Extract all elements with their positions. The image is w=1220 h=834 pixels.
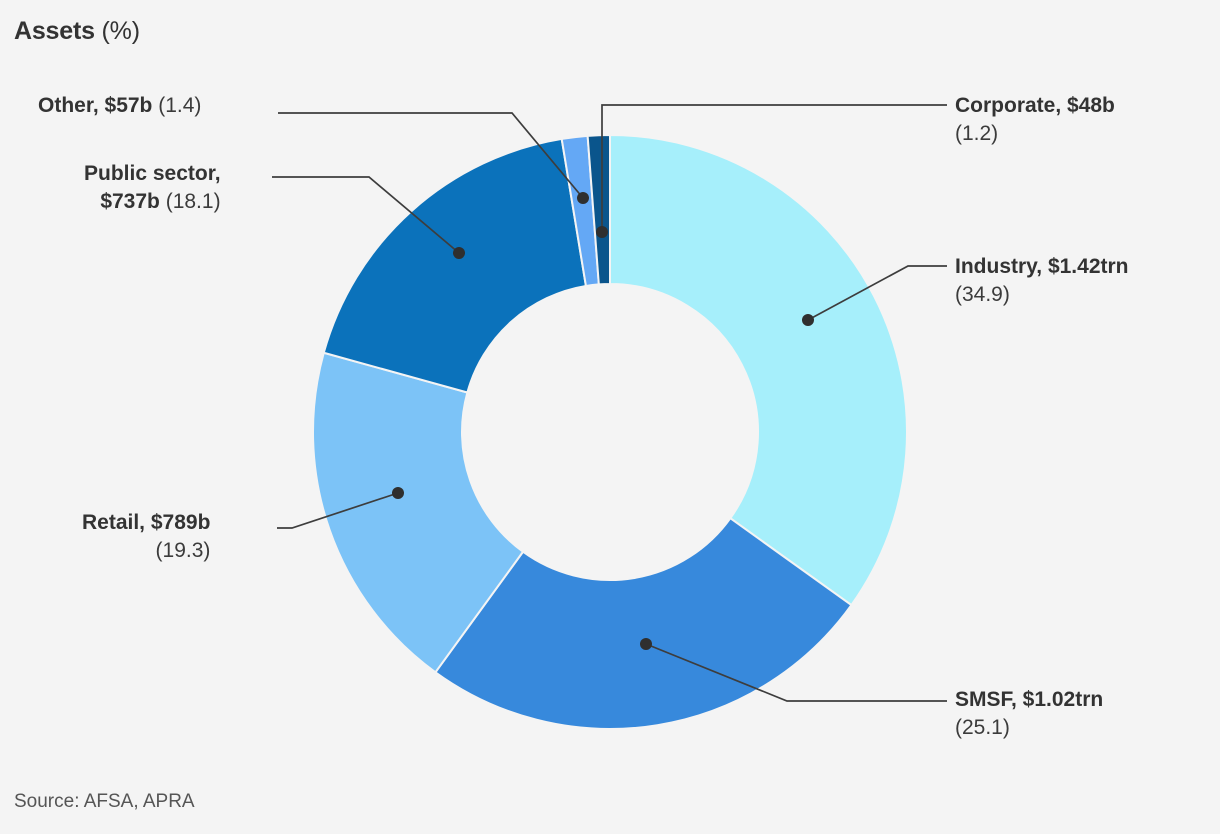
slice-label-smsf-line2: (25.1) — [955, 714, 1103, 742]
slice-label-smsf: SMSF, $1.02trn (25.1) — [955, 686, 1103, 741]
donut-slices — [313, 135, 907, 729]
slice-label-retail-line1: Retail, $789b — [82, 509, 210, 537]
slice-label-industry-line2: (34.9) — [955, 281, 1129, 309]
leader-dot-corporate — [596, 226, 608, 238]
leader-dot-smsf — [640, 638, 652, 650]
slice-label-retail: Retail, $789b (19.3) — [82, 509, 210, 564]
slice-label-smsf-line1: SMSF, $1.02trn — [955, 686, 1103, 714]
leader-dot-industry — [802, 314, 814, 326]
slice-label-industry: Industry, $1.42trn (34.9) — [955, 253, 1129, 308]
slice-label-retail-line2: (19.3) — [82, 537, 210, 565]
slice-label-industry-line1: Industry, $1.42trn — [955, 253, 1129, 281]
slice-label-corporate-line1: Corporate, $48b — [955, 92, 1115, 120]
chart-container: Assets (%) Other, $57b (1.4) — [0, 0, 1220, 834]
leader-dot-public-sector — [453, 247, 465, 259]
slice-label-public-sector: Public sector, $737b (18.1) — [84, 160, 221, 215]
slice-label-corporate: Corporate, $48b (1.2) — [955, 92, 1115, 147]
slice-label-public-sector-line1: Public sector, — [84, 160, 221, 188]
slice-label-other-name: Other, $57b — [38, 94, 152, 117]
slice-label-corporate-line2: (1.2) — [955, 120, 1115, 148]
leader-dot-other — [577, 192, 589, 204]
slice-label-other-percent: (1.4) — [158, 94, 201, 117]
leader-dot-retail — [392, 487, 404, 499]
slice-label-public-sector-line2: $737b (18.1) — [84, 188, 221, 216]
source-note: Source: AFSA, APRA — [14, 791, 195, 813]
slice-label-other: Other, $57b (1.4) — [38, 92, 201, 120]
donut-slice-industry[interactable] — [610, 135, 907, 605]
